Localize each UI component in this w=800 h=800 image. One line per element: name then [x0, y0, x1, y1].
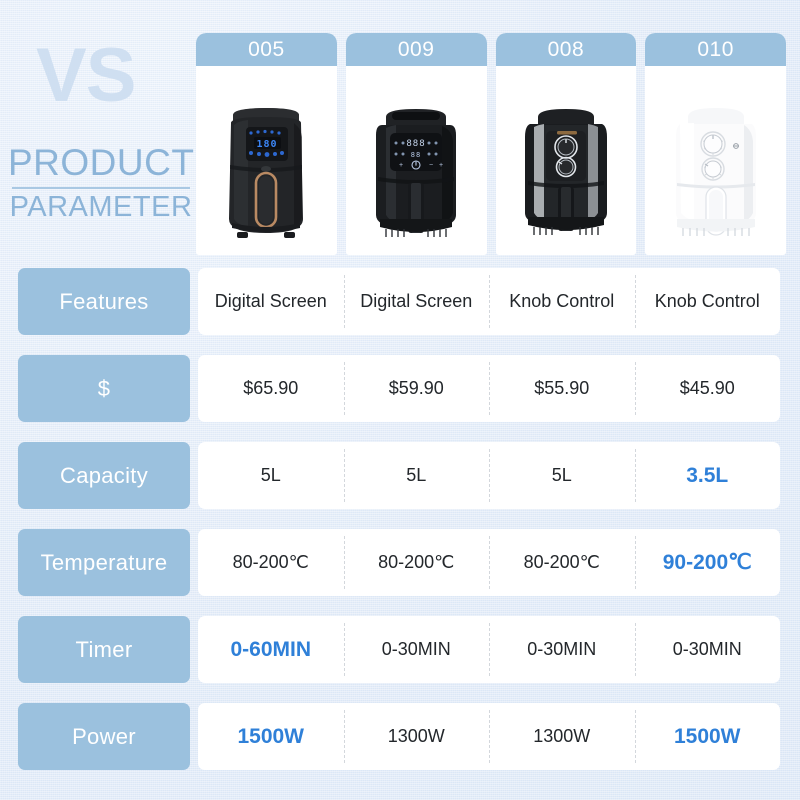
cell-timer-008: 0-30MIN [489, 616, 635, 683]
row-values: 5L 5L 5L 3.5L [198, 442, 780, 509]
row-values: 80-200℃ 80-200℃ 80-200℃ 90-200℃ [198, 529, 780, 596]
cell-temperature-010: 90-200℃ [635, 529, 781, 596]
product-header-strip: 005 [196, 33, 786, 255]
row-values: $65.90 $59.90 $55.90 $45.90 [198, 355, 780, 422]
cell-temperature-009: 80-200℃ [344, 529, 490, 596]
row-label-features: Features [18, 268, 190, 335]
product-card-009[interactable]: 009 888 88 [346, 33, 487, 255]
cell-timer-005: 0-60MIN [198, 616, 344, 683]
product-code-tab: 010 [645, 33, 786, 66]
cell-temperature-005: 80-200℃ [198, 529, 344, 596]
air-fryer-black-digital-icon: 180 [218, 97, 314, 249]
air-fryer-white-knob-icon [668, 97, 764, 249]
table-row: $ $65.90 $59.90 $55.90 $45.90 [0, 355, 800, 422]
cell-power-010: 1500W [635, 703, 781, 770]
cell-capacity-005: 5L [198, 442, 344, 509]
cell-capacity-008: 5L [489, 442, 635, 509]
cell-temperature-008: 80-200℃ [489, 529, 635, 596]
product-card-010[interactable]: 010 [645, 33, 786, 255]
product-card-008[interactable]: 008 [496, 33, 637, 255]
product-photo [645, 66, 786, 255]
air-fryer-black-touch-icon: 888 88 + − + [368, 97, 464, 249]
row-label-capacity: Capacity [18, 442, 190, 509]
cell-features-005: Digital Screen [198, 268, 344, 335]
cell-timer-009: 0-30MIN [344, 616, 490, 683]
cell-features-009: Digital Screen [344, 268, 490, 335]
cell-price-005: $65.90 [198, 355, 344, 422]
cell-price-008: $55.90 [489, 355, 635, 422]
svg-text:+: + [399, 162, 403, 169]
product-photo [496, 66, 637, 255]
table-row: Capacity 5L 5L 5L 3.5L [0, 442, 800, 509]
row-label-temperature: Temperature [18, 529, 190, 596]
svg-text:−: − [429, 162, 433, 169]
comparison-page: VS PRODUCT PARAMETER 005 [0, 0, 800, 800]
table-row: Timer 0-60MIN 0-30MIN 0-30MIN 0-30MIN [0, 616, 800, 683]
title-line-product: PRODUCT [8, 144, 194, 183]
title-block: VS PRODUCT PARAMETER [0, 34, 196, 254]
cell-capacity-010: 3.5L [635, 442, 781, 509]
cell-features-010: Knob Control [635, 268, 781, 335]
cell-power-005: 1500W [198, 703, 344, 770]
comparison-table: Features Digital Screen Digital Screen K… [0, 268, 800, 790]
svg-text:+: + [439, 162, 443, 169]
row-values: Digital Screen Digital Screen Knob Contr… [198, 268, 780, 335]
product-code-tab: 008 [496, 33, 637, 66]
table-row: Temperature 80-200℃ 80-200℃ 80-200℃ 90-2… [0, 529, 800, 596]
svg-text:88: 88 [411, 151, 421, 159]
table-row: Features Digital Screen Digital Screen K… [0, 268, 800, 335]
table-row: Power 1500W 1300W 1300W 1500W [0, 703, 800, 770]
cell-capacity-009: 5L [344, 442, 490, 509]
cell-power-008: 1300W [489, 703, 635, 770]
product-code-tab: 009 [346, 33, 487, 66]
svg-text:888: 888 [406, 139, 425, 149]
cell-price-009: $59.90 [344, 355, 490, 422]
row-values: 1500W 1300W 1300W 1500W [198, 703, 780, 770]
air-fryer-black-knob-icon [518, 97, 614, 249]
row-label-timer: Timer [18, 616, 190, 683]
row-label-power: Power [18, 703, 190, 770]
title-line-parameter: PARAMETER [8, 192, 194, 222]
title-divider-rule [12, 187, 190, 189]
row-values: 0-60MIN 0-30MIN 0-30MIN 0-30MIN [198, 616, 780, 683]
product-photo: 180 [196, 66, 337, 255]
cell-price-010: $45.90 [635, 355, 781, 422]
cell-features-008: Knob Control [489, 268, 635, 335]
svg-text:180: 180 [257, 139, 278, 150]
row-label-price: $ [18, 355, 190, 422]
cell-timer-010: 0-30MIN [635, 616, 781, 683]
product-photo: 888 88 + − + [346, 66, 487, 255]
product-code-tab: 005 [196, 33, 337, 66]
cell-power-009: 1300W [344, 703, 490, 770]
product-card-005[interactable]: 005 [196, 33, 337, 255]
vs-heading: VS [36, 38, 135, 114]
